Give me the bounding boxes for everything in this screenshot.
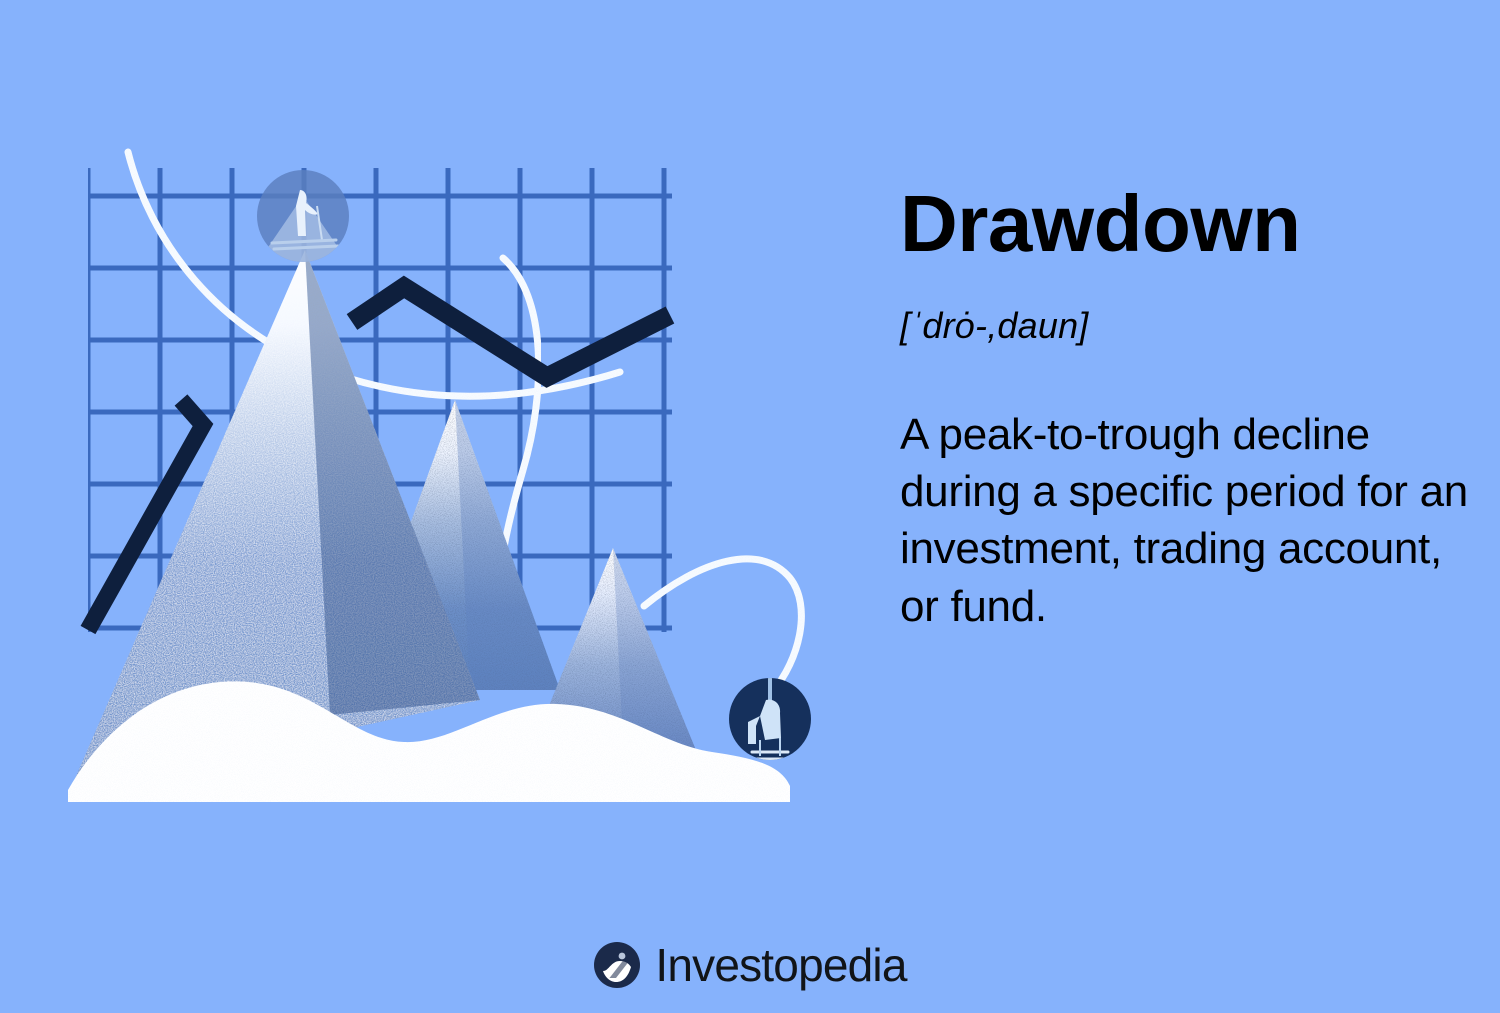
brand-name: Investopedia — [655, 942, 906, 988]
chart-line-peak-to-trough-right — [352, 287, 670, 377]
ski-lift-badge-right — [729, 676, 811, 760]
illustration — [0, 0, 880, 880]
page-title: Drawdown — [900, 184, 1470, 264]
definition-text-column: Drawdown [ˈdrȯ-,daun] A peak-to-trough d… — [900, 184, 1470, 635]
definition-text: A peak-to-trough decline during a specif… — [900, 344, 1470, 635]
pronunciation: [ˈdrȯ-,daun] — [900, 264, 1470, 344]
skier-badge-at-peak — [257, 170, 349, 262]
investopedia-circle-i-icon — [593, 941, 641, 989]
white-lift-cable — [644, 559, 801, 692]
brand-footer: Investopedia — [0, 941, 1500, 989]
definition-card: Drawdown [ˈdrȯ-,daun] A peak-to-trough d… — [0, 0, 1500, 1013]
